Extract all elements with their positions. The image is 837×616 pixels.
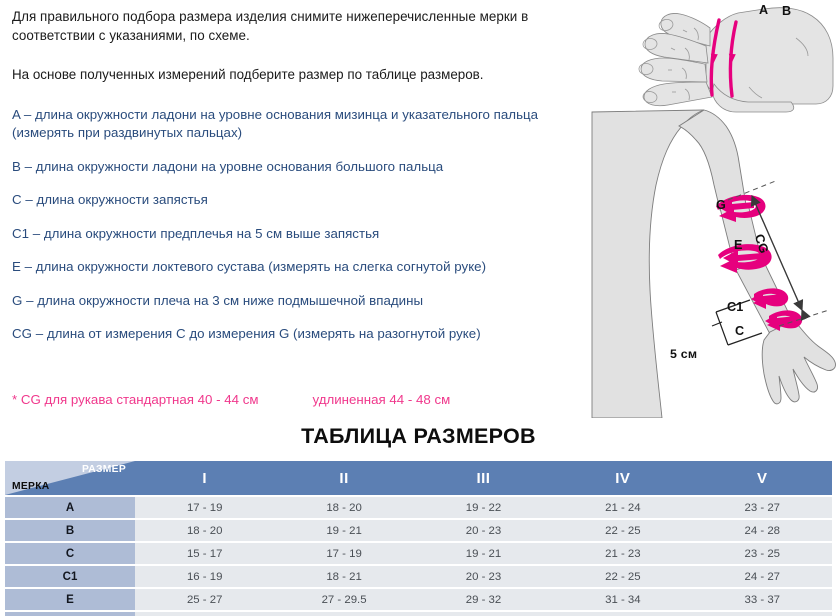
row-label-g: G <box>5 612 135 616</box>
column-header-ii: II <box>274 461 413 495</box>
hand-diagram <box>639 8 833 112</box>
size-table-title: ТАБЛИЦА РАЗМЕРОВ <box>0 424 837 449</box>
definition-b: B – длина окружности ладони на уровне ос… <box>12 158 584 177</box>
table-row: E 25 - 27 27 - 29.5 29 - 32 31 - 34 33 -… <box>5 589 832 610</box>
cell-g-iv: 25 - 40 <box>553 612 692 616</box>
corner-header-cell: РАЗМЕР МЕРКА <box>5 461 135 495</box>
cell-g-iii: 32 - 37 <box>414 612 553 616</box>
corner-size-label: РАЗМЕР <box>82 464 126 475</box>
cell-a-iv: 21 - 24 <box>553 497 692 518</box>
definition-cg: CG – длина от измерения C до измерения G… <box>12 325 584 344</box>
cell-c-ii: 17 - 19 <box>274 543 413 564</box>
label-c1: C1 <box>727 300 744 314</box>
instructions-column: Для правильного подбора размера изделия … <box>12 8 584 344</box>
cell-a-iii: 19 - 22 <box>414 497 553 518</box>
note-extended: удлиненная 44 - 48 см <box>313 392 451 407</box>
definition-e: E – длина окружности локтевого сустава (… <box>12 258 584 277</box>
cell-b-iii: 20 - 23 <box>414 520 553 541</box>
size-table-head: РАЗМЕР МЕРКА I II III IV V <box>5 461 832 495</box>
sleeve-length-note: * CG для рукава стандартная 40 - 44 смуд… <box>12 392 450 407</box>
definition-c1: C1 – длина окружности предплечья на 5 см… <box>12 225 584 244</box>
cell-e-v: 33 - 37 <box>693 589 832 610</box>
cell-g-ii: 30 - 34 <box>274 612 413 616</box>
row-label-b: B <box>5 520 135 541</box>
table-row: B 18 - 20 19 - 21 20 - 23 22 - 25 24 - 2… <box>5 520 832 541</box>
cell-g-v: 38 - 44 <box>693 612 832 616</box>
intro-paragraph-1: Для правильного подбора размера изделия … <box>12 8 584 45</box>
row-label-c: C <box>5 543 135 564</box>
table-row: G 28 - 32 30 - 34 32 - 37 25 - 40 38 - 4… <box>5 612 832 616</box>
column-header-iii: III <box>414 461 553 495</box>
row-label-e: E <box>5 589 135 610</box>
cell-c1-iii: 20 - 23 <box>414 566 553 587</box>
cell-c-iv: 21 - 23 <box>553 543 692 564</box>
cell-b-i: 18 - 20 <box>135 520 274 541</box>
label-b: B <box>782 4 791 18</box>
definition-g: G – длина окружности плеча на 3 см ниже … <box>12 292 584 311</box>
table-row: C1 16 - 19 18 - 21 20 - 23 22 - 25 24 - … <box>5 566 832 587</box>
cell-b-ii: 19 - 21 <box>274 520 413 541</box>
row-label-a: A <box>5 497 135 518</box>
label-g: G <box>716 198 726 212</box>
cell-a-v: 23 - 27 <box>693 497 832 518</box>
size-table-header-row: РАЗМЕР МЕРКА I II III IV V <box>5 461 832 495</box>
cell-c1-v: 24 - 27 <box>693 566 832 587</box>
arm-diagram <box>592 110 835 418</box>
cell-b-v: 24 - 28 <box>693 520 832 541</box>
cell-a-i: 17 - 19 <box>135 497 274 518</box>
definition-a: A – длина окружности ладони на уровне ос… <box>12 106 584 143</box>
column-header-i: I <box>135 461 274 495</box>
column-header-iv: IV <box>553 461 692 495</box>
cell-c-iii: 19 - 21 <box>414 543 553 564</box>
definition-c: C – длина окружности запястья <box>12 191 584 210</box>
cell-e-iv: 31 - 34 <box>553 589 692 610</box>
cell-g-i: 28 - 32 <box>135 612 274 616</box>
note-standard: * CG для рукава стандартная 40 - 44 см <box>12 392 259 407</box>
cell-c1-iv: 22 - 25 <box>553 566 692 587</box>
cell-c1-ii: 18 - 21 <box>274 566 413 587</box>
label-c: C <box>735 324 744 338</box>
row-label-c1: C1 <box>5 566 135 587</box>
cell-a-ii: 18 - 20 <box>274 497 413 518</box>
cell-c-v: 23 - 25 <box>693 543 832 564</box>
cell-c1-i: 16 - 19 <box>135 566 274 587</box>
intro-paragraph-2: На основе полученных измерений подберите… <box>12 66 584 85</box>
label-a: A <box>759 3 768 17</box>
table-row: A 17 - 19 18 - 20 19 - 22 21 - 24 23 - 2… <box>5 497 832 518</box>
corner-measure-label: МЕРКА <box>12 481 50 492</box>
cell-b-iv: 22 - 25 <box>553 520 692 541</box>
cell-c-i: 15 - 17 <box>135 543 274 564</box>
label-e: E <box>734 238 743 252</box>
cell-e-ii: 27 - 29.5 <box>274 589 413 610</box>
table-row: C 15 - 17 17 - 19 19 - 21 21 - 23 23 - 2… <box>5 543 832 564</box>
cell-e-iii: 29 - 32 <box>414 589 553 610</box>
cell-e-i: 25 - 27 <box>135 589 274 610</box>
column-header-v: V <box>693 461 832 495</box>
label-five-cm: 5 см <box>670 347 697 361</box>
measurement-definitions: A – длина окружности ладони на уровне ос… <box>12 106 584 344</box>
size-table: РАЗМЕР МЕРКА I II III IV V A 17 - 19 18 … <box>5 461 832 616</box>
size-guide-page: Для правильного подбора размера изделия … <box>0 0 837 616</box>
size-table-body: A 17 - 19 18 - 20 19 - 22 21 - 24 23 - 2… <box>5 495 832 616</box>
measurement-illustration: A B G E CG C1 C 5 см <box>586 0 837 418</box>
